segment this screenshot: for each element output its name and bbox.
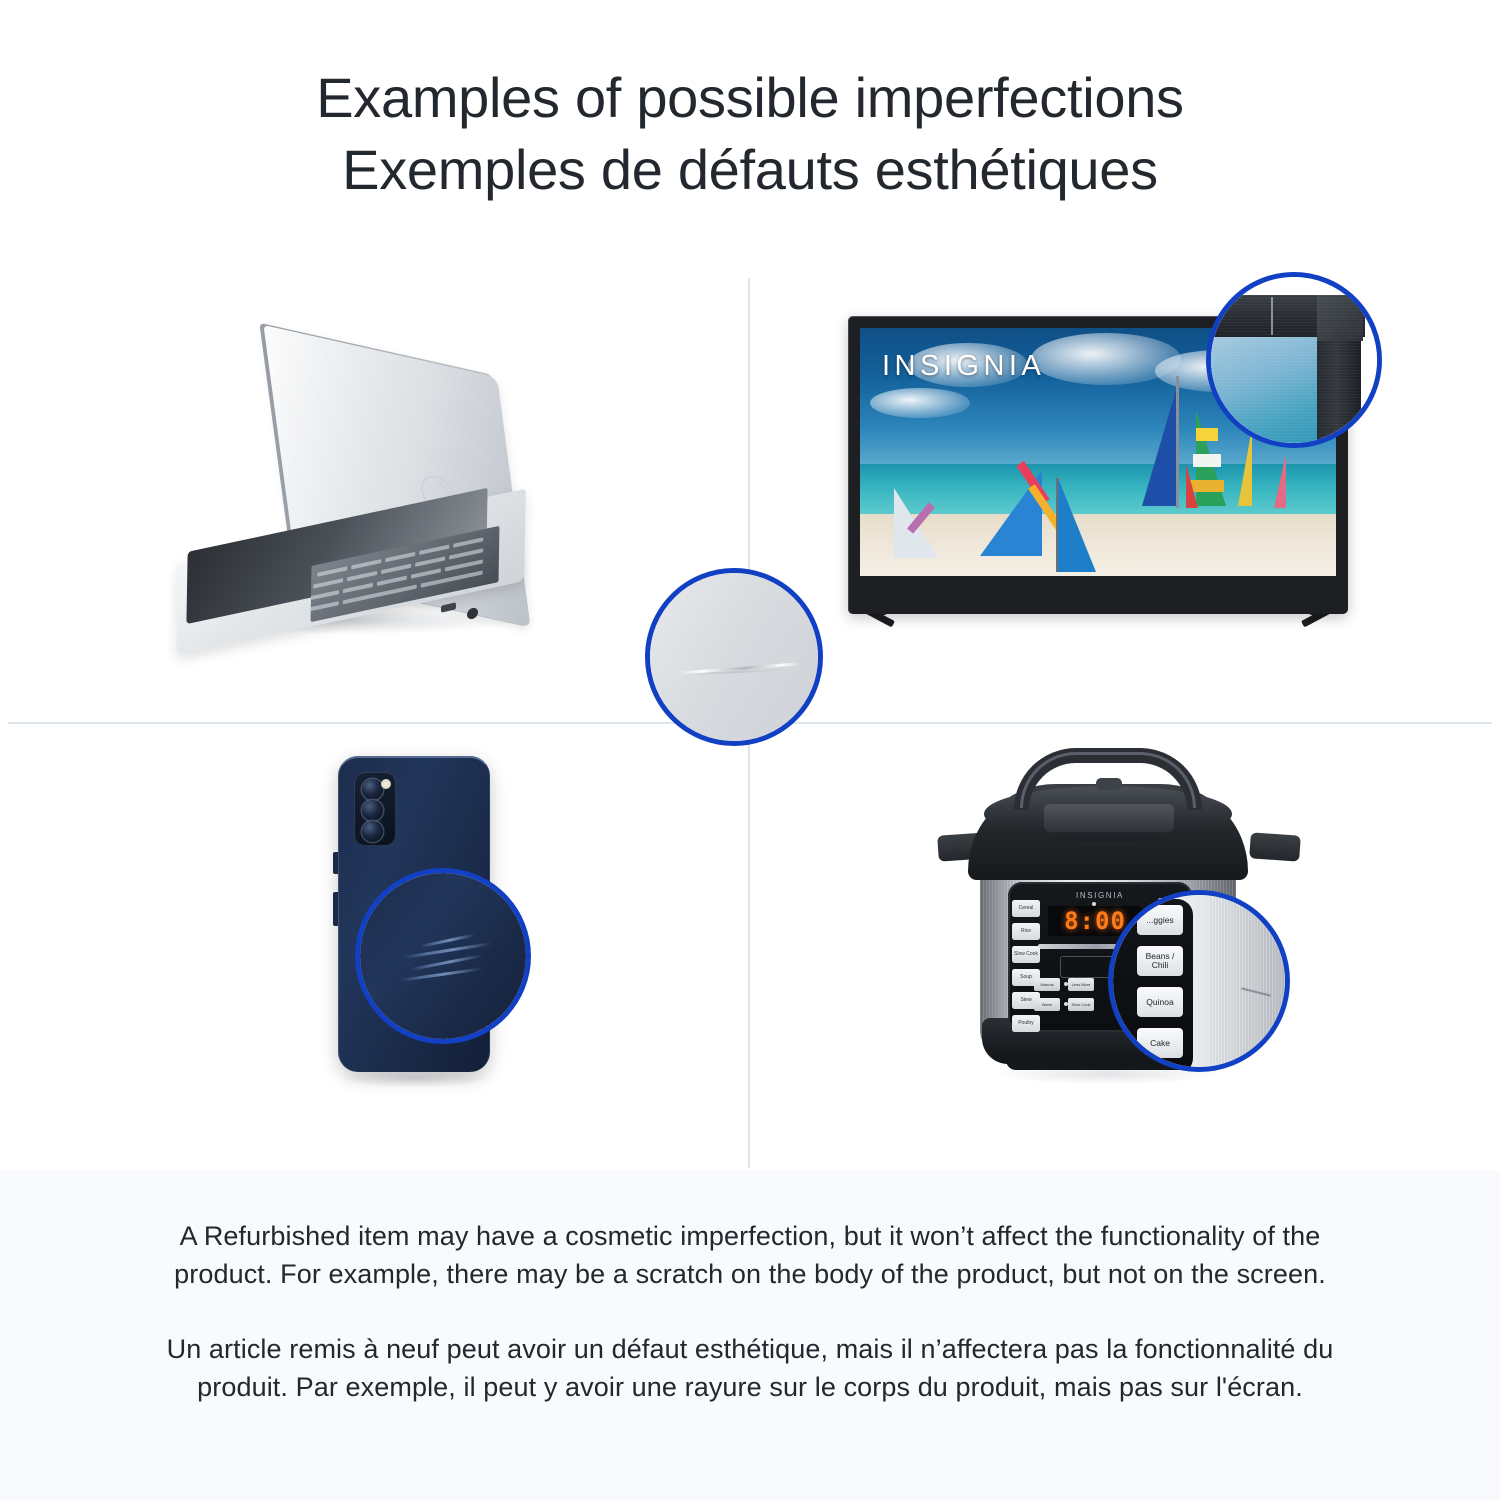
cooker-carry-handle-highlight xyxy=(1020,752,1196,808)
cooker-magnified-button-column: ...ggies Beans / Chili Quinoa Cake xyxy=(1137,905,1183,1069)
page-header: Examples of possible imperfections Exemp… xyxy=(0,0,1500,268)
phone-camera-lens-2 xyxy=(362,800,383,821)
footer-paragraph-fr: Un article remis à neuf peut avoir un dé… xyxy=(150,1330,1350,1407)
cooker-button-slowcook-2[interactable]: Slow Cook xyxy=(1068,998,1094,1011)
laptop-product-image xyxy=(175,368,595,648)
cooker-magnified-button-cake: Cake xyxy=(1137,1028,1183,1058)
phone-camera-module xyxy=(354,772,396,846)
laptop-illustration xyxy=(0,278,748,722)
tv-brand-logo: INSIGNIA xyxy=(882,350,1045,383)
cooker-button-cereal[interactable]: Cereal xyxy=(1012,900,1040,917)
pressure-cooker-product-image: INSIGNIA 8:00 Cereal Rice Slow Cook Soup xyxy=(940,742,1300,1122)
grid-cell-laptop xyxy=(0,278,748,722)
pressure-cooker-illustration: INSIGNIA 8:00 Cereal Rice Slow Cook Soup xyxy=(750,724,1498,1168)
page-root: Examples of possible imperfections Exemp… xyxy=(0,0,1500,1500)
tv-magnified-bezel-corner xyxy=(1317,295,1363,341)
cooker-button-rice[interactable]: Rice xyxy=(1012,923,1040,940)
cooker-right-handle xyxy=(1249,832,1301,861)
tv-scene-sail-blue-tall xyxy=(1142,390,1176,506)
cooker-button-warm[interactable]: Warm xyxy=(1034,998,1060,1011)
grid-cell-pressure-cooker: INSIGNIA 8:00 Cereal Rice Slow Cook Soup xyxy=(750,724,1498,1168)
page-title-en: Examples of possible imperfections xyxy=(316,62,1184,134)
phone-magnifier-circle xyxy=(355,868,531,1044)
page-title-fr: Exemples de défauts esthétiques xyxy=(342,134,1158,206)
cooker-magnified-button-delay: lay xyxy=(1108,953,1127,973)
cooker-magnifier-circle: lay w Cook ...ggies Beans / Chili Quinoa… xyxy=(1108,890,1290,1072)
tv-magnified-surface xyxy=(1211,277,1377,443)
cooker-magnified-brushed-texture xyxy=(1209,895,1290,1072)
phone-camera-lens-3 xyxy=(362,821,383,842)
cooker-magnified-surface: lay w Cook ...ggies Beans / Chili Quinoa… xyxy=(1113,895,1285,1067)
product-examples-grid: INSIGNIA xyxy=(0,278,1500,1168)
tv-scene-sail-fg-cyan xyxy=(1058,478,1096,572)
tv-scene-sail-red xyxy=(1186,464,1198,508)
cooker-magnified-panel: lay w Cook ...ggies Beans / Chili Quinoa… xyxy=(1108,899,1193,1072)
phone-magnified-surface xyxy=(360,873,526,1039)
tv-magnified-screen-edge xyxy=(1206,335,1319,448)
cooker-button-manual[interactable]: Manual xyxy=(1034,978,1060,991)
tv-scratch-mark xyxy=(1271,297,1273,335)
tv-scene-sail-pink xyxy=(1274,454,1286,508)
cooker-button-temp[interactable]: Less More Temp xyxy=(1068,978,1094,991)
tv-product-image: INSIGNIA xyxy=(848,316,1368,686)
phone-product-image xyxy=(300,756,600,1116)
tv-magnifier-circle xyxy=(1206,272,1382,448)
cooker-magnified-button-quinoa: Quinoa xyxy=(1137,987,1183,1017)
page-footer: A Refurbished item may have a cosmetic i… xyxy=(0,1171,1500,1500)
phone-camera-flash xyxy=(381,779,391,789)
grid-cell-tv: INSIGNIA xyxy=(750,278,1498,722)
footer-paragraph-en: A Refurbished item may have a cosmetic i… xyxy=(150,1217,1350,1294)
phone-illustration xyxy=(0,724,748,1168)
cooker-button-slowcook[interactable]: Slow Cook xyxy=(1012,946,1040,963)
cooker-magnified-button-beans: Beans / Chili xyxy=(1137,946,1183,976)
phone-camera-lens-1 xyxy=(362,779,383,800)
grid-cell-phone xyxy=(0,724,748,1168)
cooker-magnified-button-steam: ...ggies xyxy=(1137,905,1183,935)
tv-illustration: INSIGNIA xyxy=(750,278,1498,722)
